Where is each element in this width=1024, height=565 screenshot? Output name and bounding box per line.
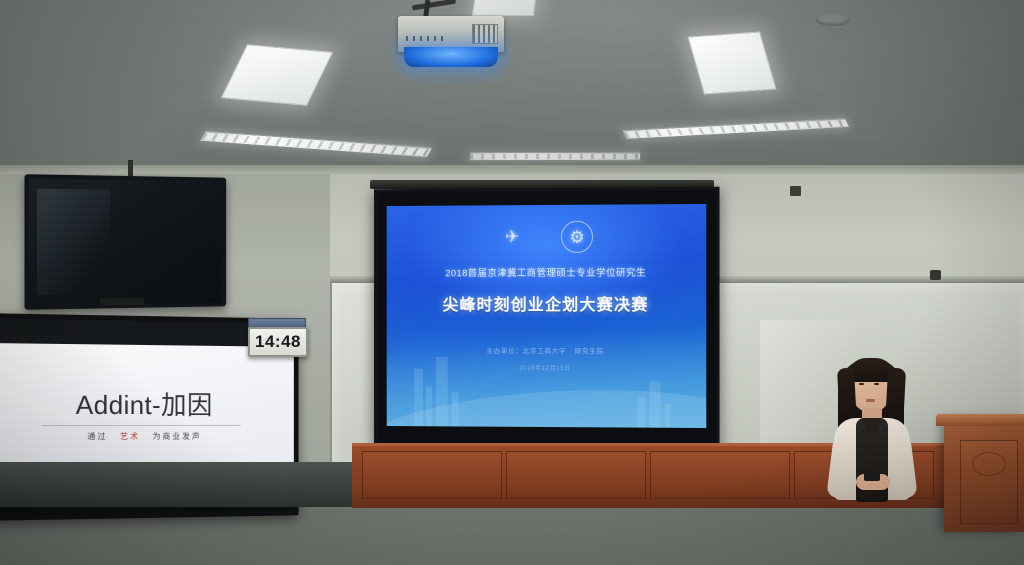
monitor-subtitle-highlight: 艺术 [120, 432, 140, 441]
slide-main-title: 尖峰时刻创业企划大赛决赛 [387, 291, 707, 315]
monitor-slide-title: Addint-加因 [0, 384, 294, 422]
organization-logo-left: ✈ [497, 221, 527, 251]
digital-clock: 14:48 [248, 327, 308, 357]
slide-subtitle: 2018首届京津冀工商管理硕士专业学位研究生 [387, 265, 707, 280]
monitor-slide-divider [42, 425, 241, 426]
whiteboard-clip-icon [930, 270, 941, 280]
presenter-eye-left [859, 383, 864, 385]
organization-logo-right: ⚙ [561, 221, 593, 253]
projected-slide: ✈ ⚙ 2018首届京津冀工商管理硕士专业学位研究生 尖峰时刻创业企划大赛决赛 … [387, 204, 707, 428]
slide-logo-row: ✈ ⚙ [387, 220, 707, 254]
monitor-subtitle-suffix: 为商业发声 [153, 432, 202, 441]
monitor-subtitle-prefix: 通过 [87, 432, 107, 441]
tv-mount-base [100, 298, 144, 305]
lecture-hall-photo: ✈ ⚙ 2018首届京津冀工商管理硕士专业学位研究生 尖峰时刻创业企划大赛决赛 … [0, 0, 1024, 565]
presenter-mouth [866, 399, 875, 402]
audience-foreground: 评委席 [0, 452, 1024, 565]
ceiling-panel-light [472, 0, 538, 16]
projector-lens [404, 47, 498, 67]
podium-top-surface [936, 414, 1024, 426]
wall-hook-icon [790, 186, 801, 196]
projector-vent-icon [472, 24, 498, 44]
monitor-slide-subtitle: 通过 艺术 为商业发声 [0, 431, 294, 443]
projection-screen: ✈ ⚙ 2018首届京津冀工商管理硕士专业学位研究生 尖峰时刻创业企划大赛决赛 … [374, 187, 720, 450]
slide-organizer-line: 主办单位：北京工商大学 · 研究生院 [387, 345, 707, 356]
wall-top-trim [0, 165, 1024, 174]
presenter-eye-right [874, 383, 879, 385]
ceiling-strip-light [470, 152, 641, 161]
wall-mounted-tv[interactable] [25, 174, 227, 310]
slide-date-line: 2018年12月15日 [387, 363, 707, 373]
projector-controls-icon [406, 36, 446, 41]
tv-screen-glare [37, 189, 110, 295]
smoke-detector-icon [816, 14, 850, 26]
